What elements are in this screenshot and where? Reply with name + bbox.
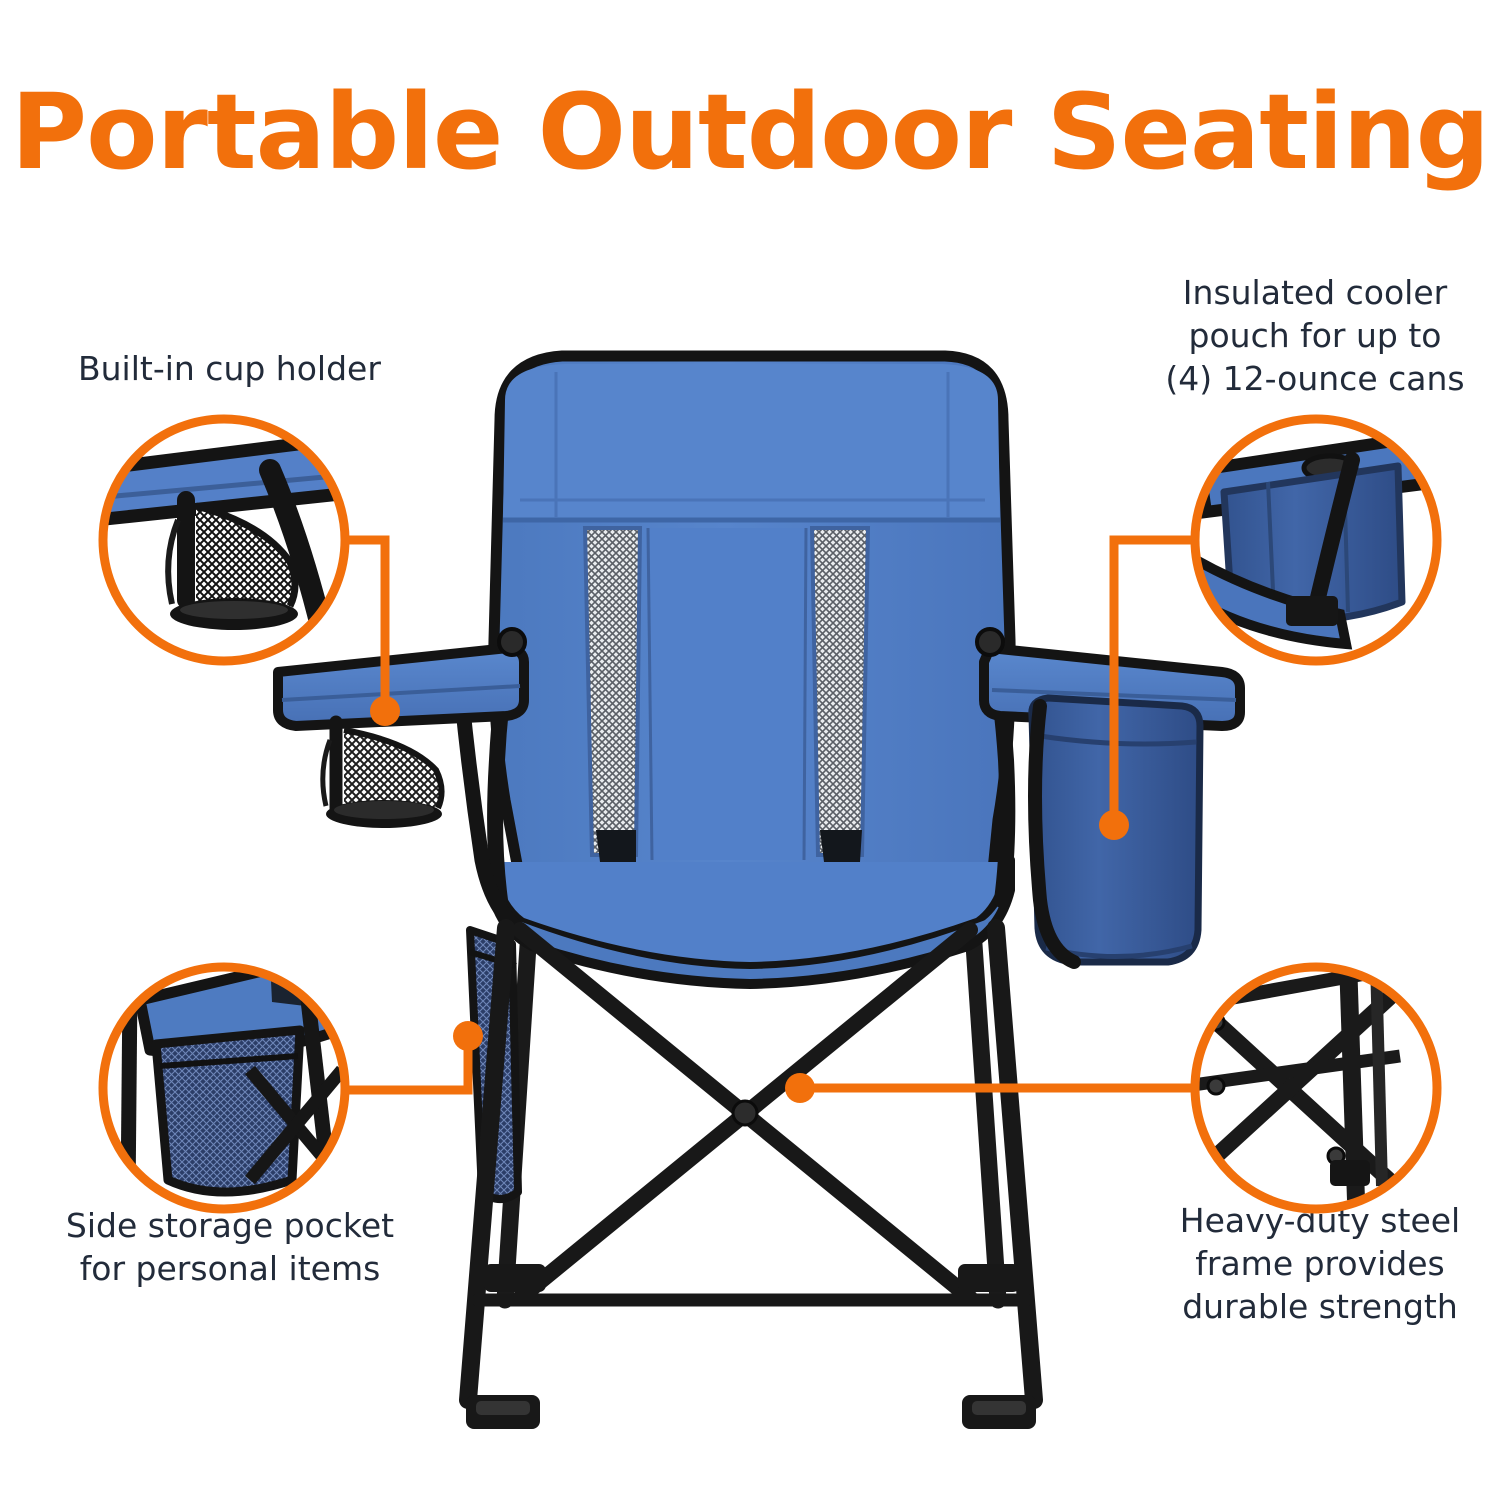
main-chair-image (278, 356, 1240, 1429)
chair-backrest (494, 356, 1011, 880)
chair-frame-legs (468, 928, 1034, 1400)
connector-dot-side-pocket (453, 1021, 483, 1051)
inset-side-pocket (103, 960, 345, 1209)
connector-side-pocket (345, 1036, 468, 1090)
connector-dot-cooler-pouch (1099, 810, 1129, 840)
connector-dot-cup-holder (370, 696, 400, 726)
product-illustration (0, 0, 1500, 1500)
connector-dot-steel-frame (785, 1073, 815, 1103)
inset-cooler-pouch (1192, 419, 1437, 661)
infographic-canvas: Portable Outdoor Seating Built-in cup ho… (0, 0, 1500, 1500)
chair-left-armrest (278, 629, 525, 930)
inset-steel-frame (1186, 960, 1437, 1209)
chair-right-armrest (977, 629, 1240, 962)
inset-cup-holder (90, 419, 360, 661)
